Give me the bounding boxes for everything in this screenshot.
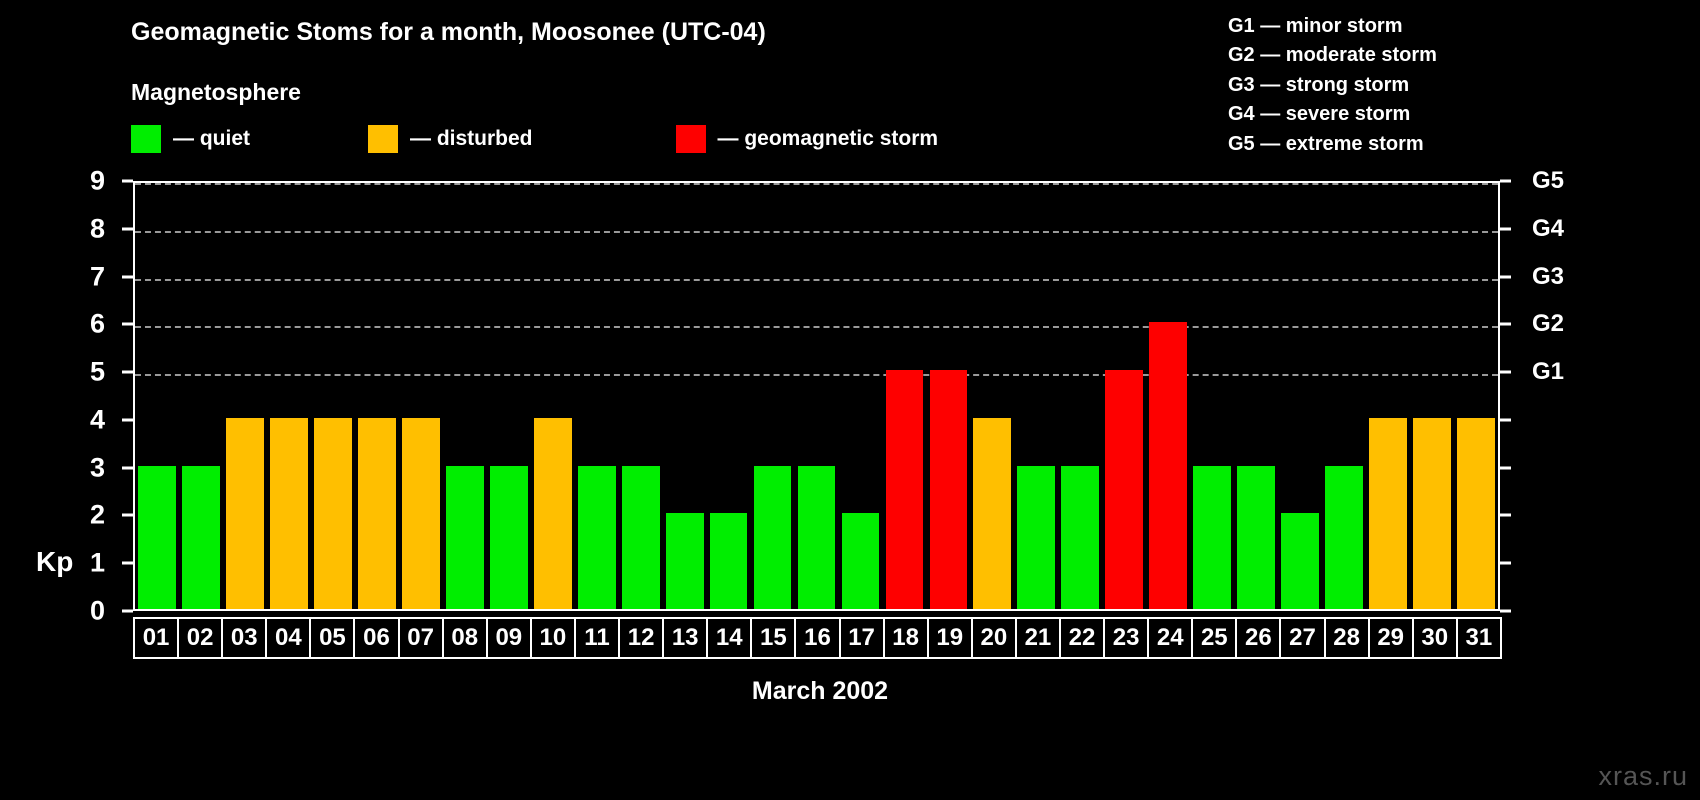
bar-slot-01 <box>135 183 179 609</box>
g-tick-label-g3: G3 <box>1532 263 1564 291</box>
bar-day-15 <box>754 466 792 609</box>
bar-day-31 <box>1457 418 1495 609</box>
bar-slot-02 <box>179 183 223 609</box>
bar-slot-03 <box>223 183 267 609</box>
bar-slot-10 <box>531 183 575 609</box>
x-axis-day-23: 23 <box>1103 617 1149 659</box>
bar-slot-31 <box>1454 183 1498 609</box>
g-tick-mark-g3 <box>1500 275 1511 278</box>
watermark: xras.ru <box>1598 761 1688 792</box>
bar-slot-22 <box>1058 183 1102 609</box>
g-legend-row-g1: G1 — minor storm <box>1228 12 1437 41</box>
bar-slot-08 <box>443 183 487 609</box>
bar-slot-07 <box>399 183 443 609</box>
x-axis-day-13: 13 <box>662 617 708 659</box>
x-axis-day-22: 22 <box>1059 617 1105 659</box>
x-axis-day-labels: 0102030405060708091011121314151617181920… <box>133 617 1500 659</box>
x-axis-day-21: 21 <box>1015 617 1061 659</box>
x-axis-day-12: 12 <box>618 617 664 659</box>
y-tick-mark-0 <box>122 610 133 613</box>
g-tick-label-g5: G5 <box>1532 167 1564 195</box>
page-title: Geomagnetic Stoms for a month, Moosonee … <box>131 18 766 47</box>
bar-day-21 <box>1017 466 1055 609</box>
bars-layer <box>135 183 1498 609</box>
x-axis-day-04: 04 <box>265 617 311 659</box>
bar-day-23 <box>1105 370 1143 609</box>
y-tick-label-0: 0 <box>90 596 105 627</box>
bar-day-30 <box>1413 418 1451 609</box>
bar-slot-15 <box>751 183 795 609</box>
bar-slot-17 <box>839 183 883 609</box>
bar-slot-13 <box>663 183 707 609</box>
bar-slot-05 <box>311 183 355 609</box>
x-axis-day-08: 08 <box>442 617 488 659</box>
g-tick-mark-g5 <box>1500 180 1511 183</box>
y-tick-label-6: 6 <box>90 309 105 340</box>
x-axis-day-09: 09 <box>486 617 532 659</box>
bar-slot-18 <box>882 183 926 609</box>
g-tick-mark-minor-3 <box>1500 466 1511 469</box>
y-tick-label-3: 3 <box>90 452 105 483</box>
bar-day-29 <box>1369 418 1407 609</box>
bar-slot-29 <box>1366 183 1410 609</box>
bar-slot-25 <box>1190 183 1234 609</box>
bar-slot-09 <box>487 183 531 609</box>
bar-day-02 <box>182 466 220 609</box>
legend-label-disturbed: — disturbed <box>410 127 533 151</box>
bar-slot-26 <box>1234 183 1278 609</box>
color-legend: — quiet— disturbed— geomagnetic storm <box>131 124 938 154</box>
g-tick-mark-minor-1 <box>1500 562 1511 565</box>
bar-day-06 <box>358 418 396 609</box>
bar-day-16 <box>798 466 836 609</box>
x-axis-day-14: 14 <box>706 617 752 659</box>
x-axis-day-20: 20 <box>971 617 1017 659</box>
x-axis-day-26: 26 <box>1235 617 1281 659</box>
x-axis-day-07: 07 <box>398 617 444 659</box>
bar-day-25 <box>1193 466 1231 609</box>
x-axis-day-06: 06 <box>353 617 399 659</box>
g-scale-legend: G1 — minor stormG2 — moderate stormG3 — … <box>1228 12 1437 159</box>
bar-slot-06 <box>355 183 399 609</box>
plot-area <box>133 181 1500 611</box>
bar-slot-16 <box>795 183 839 609</box>
x-axis-day-31: 31 <box>1456 617 1502 659</box>
bar-day-18 <box>886 370 924 609</box>
bar-day-28 <box>1325 466 1363 609</box>
bar-slot-24 <box>1146 183 1190 609</box>
x-axis-day-16: 16 <box>794 617 840 659</box>
bar-day-13 <box>666 513 704 609</box>
bar-slot-11 <box>575 183 619 609</box>
x-axis-day-05: 05 <box>309 617 355 659</box>
legend-swatch-disturbed <box>368 125 398 153</box>
x-axis-day-27: 27 <box>1279 617 1325 659</box>
g-tick-mark-g1 <box>1500 371 1511 374</box>
g-tick-mark-minor-4 <box>1500 418 1511 421</box>
y-axis-gscale: G1G2G3G4G5 <box>1500 181 1700 611</box>
x-axis-day-28: 28 <box>1324 617 1370 659</box>
bar-slot-28 <box>1322 183 1366 609</box>
x-axis-title: March 2002 <box>0 677 1640 706</box>
y-tick-label-7: 7 <box>90 261 105 292</box>
y-tick-label-9: 9 <box>90 166 105 197</box>
bar-day-01 <box>138 466 176 609</box>
bar-day-04 <box>270 418 308 609</box>
g-tick-label-g1: G1 <box>1532 358 1564 386</box>
bar-day-08 <box>446 466 484 609</box>
bar-slot-14 <box>707 183 751 609</box>
y-tick-mark-8 <box>122 227 133 230</box>
y-axis-kp: Kp 0123456789 <box>0 181 133 611</box>
g-tick-mark-minor-0 <box>1500 610 1511 613</box>
bar-day-05 <box>314 418 352 609</box>
y-tick-mark-7 <box>122 275 133 278</box>
g-tick-mark-minor-2 <box>1500 514 1511 517</box>
y-tick-mark-6 <box>122 323 133 326</box>
bar-slot-21 <box>1014 183 1058 609</box>
bar-day-12 <box>622 466 660 609</box>
bar-slot-19 <box>926 183 970 609</box>
legend-entry-quiet: — quiet <box>131 125 250 153</box>
legend-entry-disturbed: — disturbed <box>368 125 533 153</box>
x-axis-day-01: 01 <box>133 617 179 659</box>
legend-swatch-geomagnetic-storm <box>676 125 706 153</box>
g-legend-row-g4: G4 — severe storm <box>1228 100 1437 129</box>
y-tick-label-4: 4 <box>90 404 105 435</box>
legend-swatch-quiet <box>131 125 161 153</box>
bar-day-10 <box>534 418 572 609</box>
legend-label-geomagnetic-storm: — geomagnetic storm <box>718 127 939 151</box>
bar-day-11 <box>578 466 616 609</box>
y-tick-label-2: 2 <box>90 500 105 531</box>
y-axis-title: Kp <box>36 546 73 578</box>
bar-day-07 <box>402 418 440 609</box>
x-axis-day-11: 11 <box>574 617 620 659</box>
x-axis-day-29: 29 <box>1368 617 1414 659</box>
y-tick-mark-4 <box>122 418 133 421</box>
bar-slot-20 <box>970 183 1014 609</box>
x-axis-day-02: 02 <box>177 617 223 659</box>
g-legend-row-g2: G2 — moderate storm <box>1228 41 1437 70</box>
bar-day-03 <box>226 418 264 609</box>
x-axis-day-24: 24 <box>1147 617 1193 659</box>
y-tick-mark-9 <box>122 180 133 183</box>
magnetosphere-label: Magnetosphere <box>131 79 301 106</box>
y-tick-label-1: 1 <box>90 548 105 579</box>
bar-day-24 <box>1149 322 1187 609</box>
x-axis-day-15: 15 <box>750 617 796 659</box>
bar-slot-30 <box>1410 183 1454 609</box>
bar-day-26 <box>1237 466 1275 609</box>
g-legend-row-g3: G3 — strong storm <box>1228 71 1437 100</box>
y-tick-label-8: 8 <box>90 213 105 244</box>
y-tick-mark-3 <box>122 466 133 469</box>
x-axis-day-03: 03 <box>221 617 267 659</box>
g-tick-label-g2: G2 <box>1532 310 1564 338</box>
g-tick-label-g4: G4 <box>1532 215 1564 243</box>
legend-label-quiet: — quiet <box>173 127 250 151</box>
bar-day-22 <box>1061 466 1099 609</box>
bar-slot-04 <box>267 183 311 609</box>
g-tick-mark-g4 <box>1500 227 1511 230</box>
bar-day-09 <box>490 466 528 609</box>
bar-day-17 <box>842 513 880 609</box>
bar-slot-27 <box>1278 183 1322 609</box>
x-axis-day-18: 18 <box>883 617 929 659</box>
bar-day-19 <box>930 370 968 609</box>
bar-day-14 <box>710 513 748 609</box>
x-axis-day-25: 25 <box>1191 617 1237 659</box>
y-tick-mark-1 <box>122 562 133 565</box>
bar-day-27 <box>1281 513 1319 609</box>
bar-slot-12 <box>619 183 663 609</box>
g-tick-mark-g2 <box>1500 323 1511 326</box>
bar-day-20 <box>973 418 1011 609</box>
x-axis-day-19: 19 <box>927 617 973 659</box>
legend-entry-geomagnetic-storm: — geomagnetic storm <box>676 125 939 153</box>
g-legend-row-g5: G5 — extreme storm <box>1228 130 1437 159</box>
y-tick-label-5: 5 <box>90 357 105 388</box>
y-tick-mark-5 <box>122 371 133 374</box>
x-axis-day-30: 30 <box>1412 617 1458 659</box>
y-tick-mark-2 <box>122 514 133 517</box>
x-axis-day-17: 17 <box>839 617 885 659</box>
x-axis-day-10: 10 <box>530 617 576 659</box>
bar-slot-23 <box>1102 183 1146 609</box>
